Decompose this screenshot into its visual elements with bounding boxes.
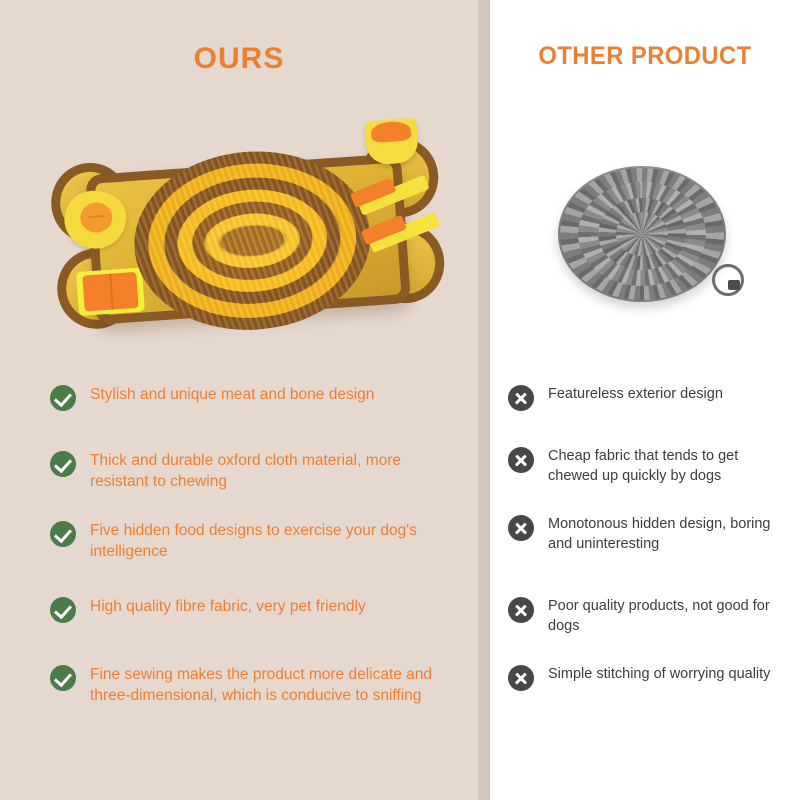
list-item-label: Simple stitching of worrying quality: [548, 664, 770, 684]
cross-icon: [508, 515, 534, 541]
cross-icon: [508, 385, 534, 411]
panel-divider: [478, 0, 490, 800]
ruffled-spiral: [128, 144, 376, 338]
list-item: Simple stitching of worrying quality: [508, 664, 770, 691]
check-icon: [50, 521, 76, 547]
list-item-label: Stylish and unique meat and bone design: [90, 384, 374, 405]
list-item-label: Fine sewing makes the product more delic…: [90, 664, 460, 707]
list-item-label: Five hidden food designs to exercise you…: [90, 520, 460, 563]
check-icon: [50, 451, 76, 477]
comparison-infographic: OURS OTHER PRODUCT: [0, 0, 800, 800]
check-icon: [50, 597, 76, 623]
check-icon: [50, 385, 76, 411]
other-product-heading: OTHER PRODUCT: [498, 42, 793, 71]
list-item-label: Poor quality products, not good for dogs: [548, 596, 788, 636]
list-item-label: Monotonous hidden design, boring and uni…: [548, 514, 788, 554]
list-item: Five hidden food designs to exercise you…: [50, 520, 460, 563]
list-item-label: Thick and durable oxford cloth material,…: [90, 450, 460, 493]
cross-icon: [508, 447, 534, 473]
snuffle-mat-illustration: [30, 98, 466, 377]
other-product-image: [552, 160, 742, 320]
ours-heading: OURS: [0, 42, 478, 76]
gray-ring-4: [616, 212, 668, 256]
cross-icon: [508, 597, 534, 623]
list-item: Stylish and unique meat and bone design: [50, 384, 374, 411]
mat-buckle: [728, 280, 740, 290]
list-item: High quality fibre fabric, very pet frie…: [50, 596, 366, 623]
gray-snuffle-mat-illustration: [558, 166, 726, 302]
list-item: Poor quality products, not good for dogs: [508, 596, 788, 636]
list-item: Fine sewing makes the product more delic…: [50, 664, 460, 707]
ours-product-image: [38, 112, 458, 362]
cross-icon: [508, 665, 534, 691]
list-item: Thick and durable oxford cloth material,…: [50, 450, 460, 493]
list-item: Featureless exterior design: [508, 384, 723, 411]
check-icon: [50, 665, 76, 691]
list-item-label: Cheap fabric that tends to get chewed up…: [548, 446, 788, 486]
list-item-label: Featureless exterior design: [548, 384, 723, 404]
list-item: Monotonous hidden design, boring and uni…: [508, 514, 788, 554]
list-item: Cheap fabric that tends to get chewed up…: [508, 446, 788, 486]
list-item-label: High quality fibre fabric, very pet frie…: [90, 596, 366, 617]
